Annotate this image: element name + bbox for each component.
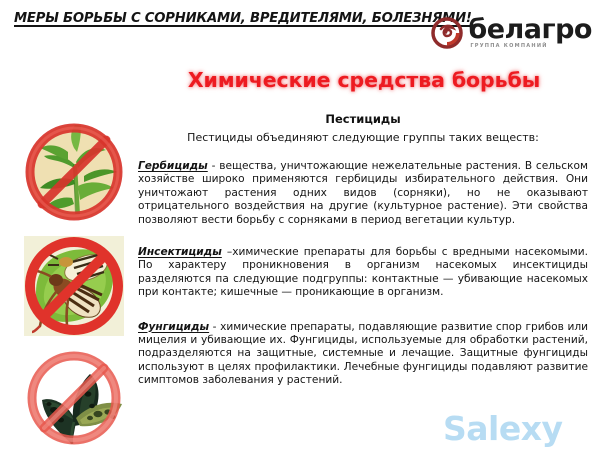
no-plant-disease-icon xyxy=(14,348,134,452)
no-colorado-beetle-icon xyxy=(14,232,134,344)
belagro-logo: белагро ГРУППА КОМПАНИЙ xyxy=(431,12,592,54)
term-fungicides: Фунгициды xyxy=(138,321,209,333)
paragraph-insecticides: Инсектициды –химические препараты для бо… xyxy=(138,246,588,300)
logo-name: белагро xyxy=(468,17,592,43)
no-weeds-icon xyxy=(14,118,134,230)
belagro-ring-icon xyxy=(431,17,463,49)
salexy-watermark: Salexy xyxy=(443,409,563,448)
paragraph-fungicides: Фунгициды - химические препараты, подавл… xyxy=(138,321,588,388)
banner-title: МЕРЫ БОРЬБЫ С СОРНИКАМИ, ВРЕДИТЕЛЯМИ, БО… xyxy=(14,11,472,26)
paragraph-herbicides: Гербициды - вещества, уничтожающие нежел… xyxy=(138,160,588,227)
term-insecticides: Инсектициды xyxy=(138,246,222,258)
content-column: Пестициды Пестициды объединяют следующие… xyxy=(138,112,588,388)
figure-no-weeds xyxy=(14,118,134,230)
figure-no-beetle xyxy=(14,232,134,344)
logo-subtitle: ГРУППА КОМПАНИЙ xyxy=(468,44,592,49)
section-title: Пестициды xyxy=(138,112,588,126)
page-title: Химические средства борьбы xyxy=(138,68,590,92)
top-banner: МЕРЫ БОРЬБЫ С СОРНИКАМИ, ВРЕДИТЕЛЯМИ, БО… xyxy=(0,0,610,58)
section-lead: Пестициды объединяют следующие группы та… xyxy=(138,131,588,144)
figure-no-disease xyxy=(14,348,134,452)
logo-wordmark: белагро ГРУППА КОМПАНИЙ xyxy=(468,17,592,50)
term-herbicides: Гербициды xyxy=(138,160,208,172)
